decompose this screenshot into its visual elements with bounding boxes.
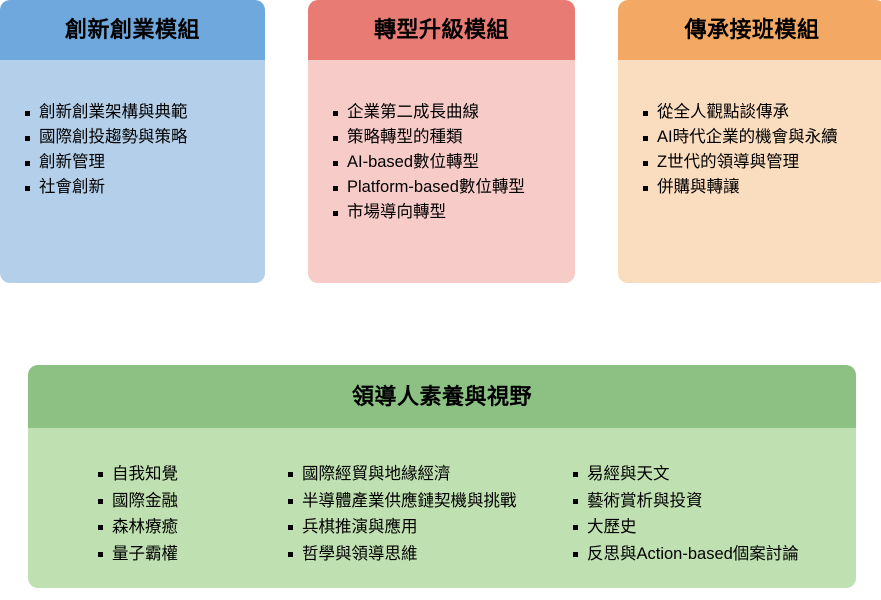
module-card-transform-list: 企業第二成長曲線策略轉型的種類AI-based數位轉型Platform-base… (333, 100, 575, 225)
list-item: 策略轉型的種類 (333, 125, 575, 150)
list-item: Platform-based數位轉型 (333, 175, 575, 200)
leadership-column-2-list: 國際經貿與地緣經濟半導體產業供應鏈契機與挑戰兵棋推演與應用哲學與領導思維 (288, 461, 573, 568)
module-card-transform-title: 轉型升級模組 (374, 19, 509, 41)
list-item: 企業第二成長曲線 (333, 100, 575, 125)
leadership-column-1: 自我知覺國際金融森林療癒量子霸權 (98, 461, 288, 588)
module-card-succession: 傳承接班模組 從全人觀點談傳承AI時代企業的機會與永續Z世代的領導與管理併購與轉… (618, 0, 881, 283)
list-item: 創新創業架構與典範 (25, 100, 265, 125)
module-card-innovation: 創新創業模組 創新創業架構與典範國際創投趨勢與策略創新管理社會創新 (0, 0, 265, 283)
list-item: 市場導向轉型 (333, 200, 575, 225)
module-card-innovation-title: 創新創業模組 (65, 19, 200, 41)
list-item: 自我知覺 (98, 461, 288, 488)
list-item: 大歷史 (573, 514, 833, 541)
list-item: 半導體產業供應鏈契機與挑戰 (288, 488, 573, 515)
list-item: 國際金融 (98, 488, 288, 515)
list-item: Z世代的領導與管理 (643, 150, 881, 175)
list-item: 易經與天文 (573, 461, 833, 488)
module-panel-leadership-body: 自我知覺國際金融森林療癒量子霸權 國際經貿與地緣經濟半導體產業供應鏈契機與挑戰兵… (28, 428, 856, 588)
list-item: 創新管理 (25, 150, 265, 175)
leadership-column-3-list: 易經與天文藝術賞析與投資大歷史反思與Action-based個案討論 (573, 461, 833, 568)
list-item: 哲學與領導思維 (288, 541, 573, 568)
list-item: 兵棋推演與應用 (288, 514, 573, 541)
list-item: 從全人觀點談傳承 (643, 100, 881, 125)
module-card-succession-list: 從全人觀點談傳承AI時代企業的機會與永續Z世代的領導與管理併購與轉讓 (643, 100, 881, 200)
module-panel-leadership: 領導人素養與視野 自我知覺國際金融森林療癒量子霸權 國際經貿與地緣經濟半導體產業… (28, 365, 856, 588)
module-card-succession-header: 傳承接班模組 (618, 0, 881, 60)
list-item: 社會創新 (25, 175, 265, 200)
leadership-column-3: 易經與天文藝術賞析與投資大歷史反思與Action-based個案討論 (573, 461, 833, 588)
module-card-succession-title: 傳承接班模組 (684, 19, 819, 41)
list-item: 併購與轉讓 (643, 175, 881, 200)
module-card-innovation-header: 創新創業模組 (0, 0, 265, 60)
module-card-transform-header: 轉型升級模組 (308, 0, 575, 60)
module-card-transform: 轉型升級模組 企業第二成長曲線策略轉型的種類AI-based數位轉型Platfo… (308, 0, 575, 283)
module-card-succession-body: 從全人觀點談傳承AI時代企業的機會與永續Z世代的領導與管理併購與轉讓 (618, 60, 881, 283)
leadership-column-1-list: 自我知覺國際金融森林療癒量子霸權 (98, 461, 288, 568)
list-item: 量子霸權 (98, 541, 288, 568)
list-item: 反思與Action-based個案討論 (573, 541, 833, 568)
module-card-transform-body: 企業第二成長曲線策略轉型的種類AI-based數位轉型Platform-base… (308, 60, 575, 283)
module-card-innovation-list: 創新創業架構與典範國際創投趨勢與策略創新管理社會創新 (25, 100, 265, 200)
list-item: 國際經貿與地緣經濟 (288, 461, 573, 488)
leadership-column-2: 國際經貿與地緣經濟半導體產業供應鏈契機與挑戰兵棋推演與應用哲學與領導思維 (288, 461, 573, 588)
list-item: 國際創投趨勢與策略 (25, 125, 265, 150)
module-panel-leadership-title: 領導人素養與視野 (352, 386, 532, 408)
list-item: 森林療癒 (98, 514, 288, 541)
list-item: AI-based數位轉型 (333, 150, 575, 175)
module-panel-leadership-header: 領導人素養與視野 (28, 365, 856, 428)
list-item: AI時代企業的機會與永續 (643, 125, 881, 150)
list-item: 藝術賞析與投資 (573, 488, 833, 515)
module-card-innovation-body: 創新創業架構與典範國際創投趨勢與策略創新管理社會創新 (0, 60, 265, 283)
